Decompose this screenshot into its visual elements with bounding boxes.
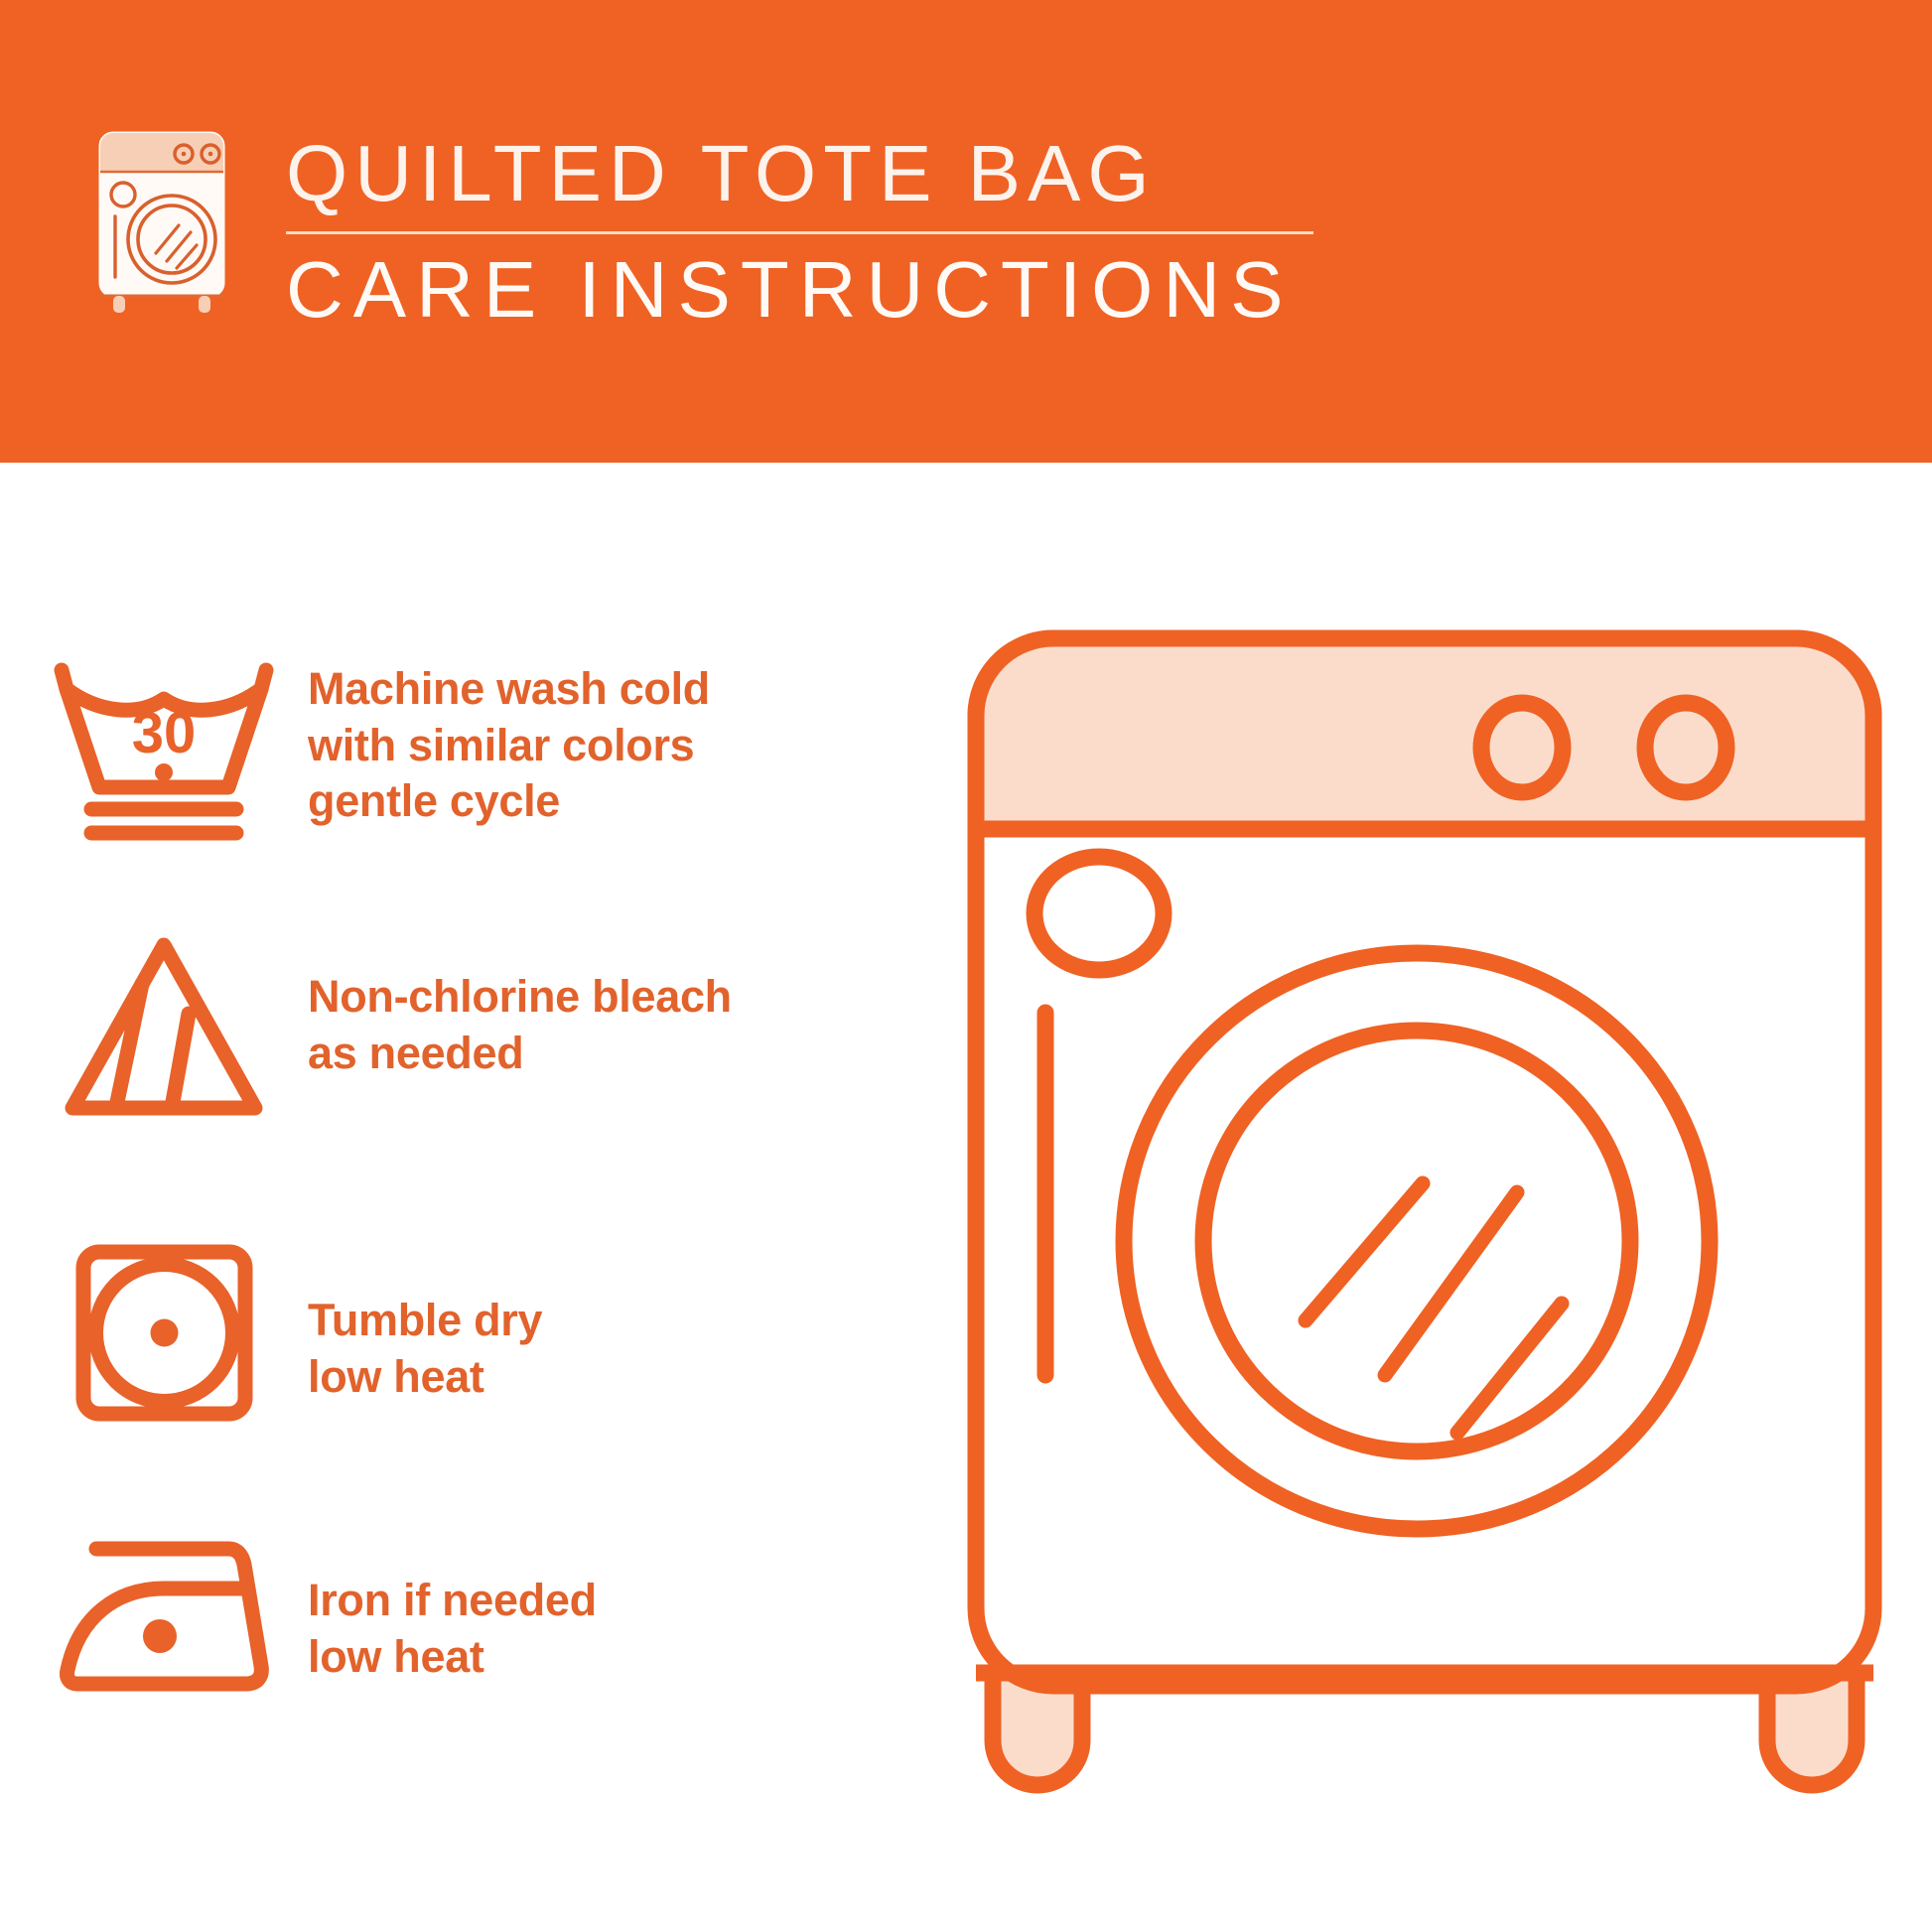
care-instruction-text: Iron if needed low heat: [308, 1527, 597, 1685]
care-icon-cell: [0, 1527, 308, 1696]
care-row: 30 Machine wash cold with similar colors…: [0, 655, 943, 864]
care-row: Tumble dry low heat: [0, 1241, 943, 1425]
care-icon-cell: [0, 931, 308, 1125]
care-icon-cell: [0, 1241, 308, 1425]
care-instructions-page: QUILTED TOTE BAG CARE INSTRUCTIONS 30: [0, 0, 1932, 1932]
care-icon-cell: 30: [0, 655, 308, 864]
care-row: Iron if needed low heat: [0, 1527, 943, 1696]
non-chlorine-bleach-triangle-icon: [59, 931, 269, 1125]
page-header: QUILTED TOTE BAG CARE INSTRUCTIONS: [0, 0, 1932, 463]
title-divider: [286, 231, 1313, 234]
care-row: Non-chlorine bleach as needed: [0, 931, 943, 1125]
front-load-washing-machine-illustration: [958, 621, 1891, 1837]
care-instruction-text: Tumble dry low heat: [308, 1241, 542, 1405]
wash-tub-30-icon: 30: [44, 655, 284, 864]
care-instruction-text: Non-chlorine bleach as needed: [308, 931, 732, 1081]
control-panel: [976, 638, 1873, 829]
iron-low-heat-icon: [58, 1527, 271, 1696]
page-title: QUILTED TOTE BAG: [286, 132, 1328, 215]
wash-temperature-label: 30: [132, 701, 197, 765]
page-subtitle: CARE INSTRUCTIONS: [286, 248, 1328, 332]
tumble-dry-low-icon: [72, 1241, 256, 1425]
care-instruction-text: Machine wash cold with similar colors ge…: [308, 655, 710, 830]
knob-left: [1481, 703, 1563, 792]
header-title-block: QUILTED TOTE BAG CARE INSTRUCTIONS: [286, 132, 1328, 332]
washing-machine-icon: [87, 127, 236, 316]
knob-right: [1645, 703, 1726, 792]
